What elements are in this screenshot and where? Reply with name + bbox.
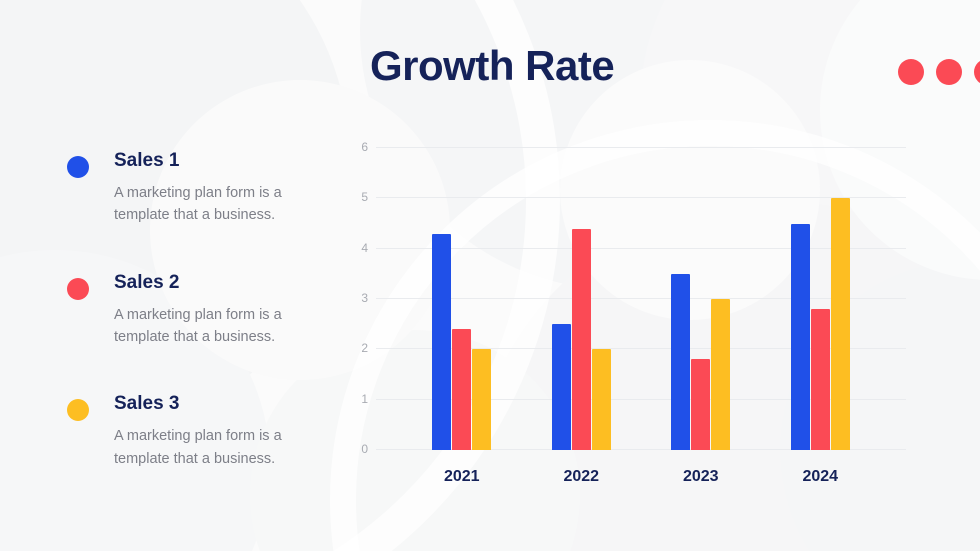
legend-item-description: A marketing plan form is a template that… <box>114 425 304 470</box>
legend-swatch-icon <box>67 399 89 421</box>
legend-swatch-icon <box>67 278 89 300</box>
legend-item-sales-3[interactable]: Sales 3 A marketing plan form is a templ… <box>64 393 314 470</box>
y-axis-tick-label: 6 <box>361 140 368 154</box>
legend-swatch-icon <box>67 156 89 178</box>
legend: Sales 1 A marketing plan form is a templ… <box>64 150 314 470</box>
chart-bar[interactable] <box>432 234 451 450</box>
growth-rate-bar-chart: 0123456 2021202220232024 <box>350 130 930 500</box>
x-axis-tick-label: 2021 <box>444 468 480 486</box>
x-axis-tick-label: 2024 <box>802 468 838 486</box>
corner-dot-icon <box>898 59 924 85</box>
chart-bar[interactable] <box>811 309 830 450</box>
x-axis-tick-label: 2023 <box>683 468 719 486</box>
x-axis-tick-label: 2022 <box>563 468 599 486</box>
corner-dot-icon <box>936 59 962 85</box>
chart-bar[interactable] <box>711 299 730 450</box>
legend-item-label: Sales 1 <box>114 150 314 173</box>
y-axis-tick-label: 3 <box>361 291 368 305</box>
y-axis-tick-label: 1 <box>361 392 368 406</box>
chart-plot-area: 0123456 2021202220232024 <box>376 148 906 450</box>
legend-item-label: Sales 3 <box>114 393 314 416</box>
chart-bar[interactable] <box>552 324 571 450</box>
chart-bar[interactable] <box>452 329 471 450</box>
legend-item-description: A marketing plan form is a template that… <box>114 304 304 349</box>
y-axis-tick-label: 5 <box>361 190 368 204</box>
chart-bar-groups: 2021202220232024 <box>376 148 906 450</box>
chart-bar[interactable] <box>831 198 850 450</box>
chart-bar-group: 2024 <box>761 148 881 450</box>
page-title: Growth Rate <box>370 42 614 90</box>
y-axis-tick-label: 0 <box>361 442 368 456</box>
legend-item-label: Sales 2 <box>114 272 314 295</box>
chart-bar-group: 2021 <box>402 148 522 450</box>
slide-canvas: Growth Rate Sales 1 A marketing plan for… <box>0 0 980 551</box>
y-axis-tick-label: 4 <box>361 241 368 255</box>
chart-bar-group: 2023 <box>641 148 761 450</box>
legend-item-sales-2[interactable]: Sales 2 A marketing plan form is a templ… <box>64 272 314 349</box>
corner-dots-decoration <box>898 59 980 85</box>
chart-bar[interactable] <box>472 349 491 450</box>
y-axis-tick-label: 2 <box>361 341 368 355</box>
legend-item-description: A marketing plan form is a template that… <box>114 182 304 227</box>
corner-dot-icon <box>974 59 980 85</box>
chart-bar[interactable] <box>671 274 690 450</box>
legend-item-sales-1[interactable]: Sales 1 A marketing plan form is a templ… <box>64 150 314 227</box>
chart-bar-group: 2022 <box>522 148 642 450</box>
chart-bar[interactable] <box>791 224 810 451</box>
chart-bar[interactable] <box>691 359 710 450</box>
chart-bar[interactable] <box>572 229 591 450</box>
chart-bar[interactable] <box>592 349 611 450</box>
